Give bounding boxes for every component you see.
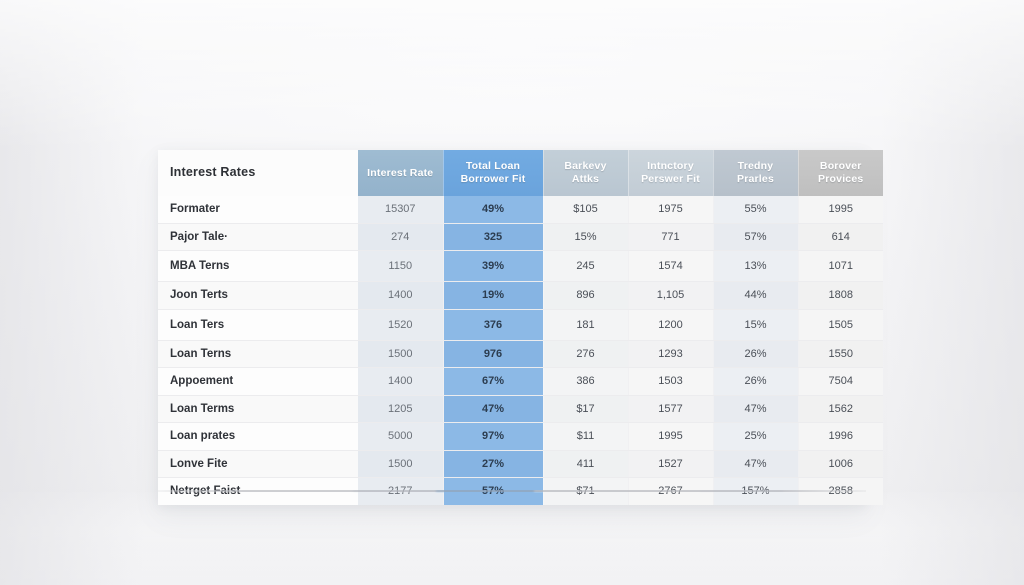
cell-col2: 49% — [443, 196, 543, 223]
cell-col3: 15% — [543, 223, 628, 251]
column-header-line: Tredny — [738, 160, 774, 172]
cell-col2: 19% — [443, 282, 543, 310]
cell-col6: 1006 — [798, 450, 883, 478]
cell-col6: 614 — [798, 223, 883, 251]
row-label-cell: Pajor Tale· — [158, 223, 358, 251]
cell-col3: 386 — [543, 368, 628, 396]
data-table-card: Interest RatesInterest RateTotal LoanBor… — [158, 150, 866, 505]
column-header-line: Interest Rate — [367, 167, 433, 179]
row-label-cell: Netrget Faist — [158, 478, 358, 505]
table-row[interactable]: Netrget Faist217757%$712767157%2858 — [158, 478, 883, 505]
row-label-cell: Loan Ters — [158, 309, 358, 340]
cell-col3: 276 — [543, 340, 628, 368]
cell-col2: 97% — [443, 423, 543, 451]
cell-col1: 274 — [358, 223, 443, 251]
cell-col5: 157% — [713, 478, 798, 505]
cell-col6: 1562 — [798, 395, 883, 423]
row-label-cell: Formater — [158, 196, 358, 223]
column-header-line: Attks — [572, 173, 599, 185]
cell-col6: 2858 — [798, 478, 883, 505]
cell-col4: 2767 — [628, 478, 713, 505]
cell-col5: 25% — [713, 423, 798, 451]
row-label-cell: Joon Terts — [158, 282, 358, 310]
cell-col5: 44% — [713, 282, 798, 310]
cell-col4: 1574 — [628, 251, 713, 282]
cell-col4: 1527 — [628, 450, 713, 478]
cell-col1: 1500 — [358, 340, 443, 368]
column-header-col2[interactable]: Total LoanBorrower Fit — [443, 150, 543, 196]
table-row[interactable]: Loan Terms120547%$17157747%1562 — [158, 395, 883, 423]
column-header-line: Interest Rates — [170, 165, 255, 179]
cell-col2: 67% — [443, 368, 543, 396]
cell-col4: 1293 — [628, 340, 713, 368]
cell-col2: 976 — [443, 340, 543, 368]
cell-col4: 1975 — [628, 196, 713, 223]
cell-col2: 27% — [443, 450, 543, 478]
table-row[interactable]: Loan Terns1500976276129326%1550 — [158, 340, 883, 368]
table-header-row: Interest RatesInterest RateTotal LoanBor… — [158, 150, 883, 196]
column-header-col4[interactable]: IntnctoryPerswer Fit — [628, 150, 713, 196]
cell-col5: 55% — [713, 196, 798, 223]
cell-col4: 771 — [628, 223, 713, 251]
cell-col6: 7504 — [798, 368, 883, 396]
cell-col3: 896 — [543, 282, 628, 310]
cell-col2: 376 — [443, 309, 543, 340]
table-row[interactable]: Pajor Tale·27432515%77157%614 — [158, 223, 883, 251]
table-row[interactable]: Appoement140067%386150326%7504 — [158, 368, 883, 396]
column-header-col5[interactable]: TrednyPrarles — [713, 150, 798, 196]
column-header-col1[interactable]: Interest Rate — [358, 150, 443, 196]
cell-col1: 1400 — [358, 282, 443, 310]
cell-col1: 2177 — [358, 478, 443, 505]
column-header-line: Prarles — [737, 173, 774, 185]
row-label-cell: Loan Terns — [158, 340, 358, 368]
cell-col5: 15% — [713, 309, 798, 340]
cell-col3: $105 — [543, 196, 628, 223]
cell-col3: $71 — [543, 478, 628, 505]
cell-col1: 15307 — [358, 196, 443, 223]
cell-col6: 1071 — [798, 251, 883, 282]
column-header-line: Barkevy — [564, 160, 606, 172]
table-row[interactable]: Lonve Fite150027%411152747%1006 — [158, 450, 883, 478]
cell-col3: $11 — [543, 423, 628, 451]
cell-col1: 1150 — [358, 251, 443, 282]
cell-col5: 13% — [713, 251, 798, 282]
cell-col2: 325 — [443, 223, 543, 251]
table-row[interactable]: Loan prates500097%$11199525%1996 — [158, 423, 883, 451]
cell-col4: 1995 — [628, 423, 713, 451]
row-label-cell: Loan Terms — [158, 395, 358, 423]
interest-rates-table: Interest RatesInterest RateTotal LoanBor… — [158, 150, 883, 505]
cell-col4: 1,105 — [628, 282, 713, 310]
cell-col6: 1808 — [798, 282, 883, 310]
column-header-col6[interactable]: BoroverProvices — [798, 150, 883, 196]
column-header-col3[interactable]: BarkevyAttks — [543, 150, 628, 196]
column-header-line: Total Loan — [466, 160, 520, 172]
cell-col5: 26% — [713, 368, 798, 396]
cell-col5: 47% — [713, 450, 798, 478]
cell-col5: 26% — [713, 340, 798, 368]
cell-col3: 411 — [543, 450, 628, 478]
cell-col1: 1400 — [358, 368, 443, 396]
cell-col2: 39% — [443, 251, 543, 282]
row-label-cell: MBA Terns — [158, 251, 358, 282]
cell-col1: 5000 — [358, 423, 443, 451]
table-title-header[interactable]: Interest Rates — [158, 150, 358, 196]
cell-col5: 57% — [713, 223, 798, 251]
column-header-line: Perswer Fit — [641, 173, 700, 185]
column-header-line: Provices — [818, 173, 863, 185]
cell-col6: 1995 — [798, 196, 883, 223]
table-row[interactable]: Formater1530749%$105197555%1995 — [158, 196, 883, 223]
cell-col4: 1503 — [628, 368, 713, 396]
cell-col3: $17 — [543, 395, 628, 423]
cell-col1: 1205 — [358, 395, 443, 423]
table-row[interactable]: Loan Ters1520376181120015%1505 — [158, 309, 883, 340]
row-label-cell: Appoement — [158, 368, 358, 396]
cell-col1: 1520 — [358, 309, 443, 340]
column-header-line: Borover — [820, 160, 862, 172]
cell-col1: 1500 — [358, 450, 443, 478]
cell-col6: 1996 — [798, 423, 883, 451]
cell-col5: 47% — [713, 395, 798, 423]
cell-col2: 47% — [443, 395, 543, 423]
table-row[interactable]: Joon Terts140019%8961,10544%1808 — [158, 282, 883, 310]
table-header: Interest RatesInterest RateTotal LoanBor… — [158, 150, 883, 196]
cell-col6: 1550 — [798, 340, 883, 368]
row-label-cell: Lonve Fite — [158, 450, 358, 478]
cell-col3: 181 — [543, 309, 628, 340]
table-row[interactable]: MBA Terns115039%245157413%1071 — [158, 251, 883, 282]
column-header-line: Intnctory — [647, 160, 694, 172]
column-header-line: Borrower Fit — [461, 173, 526, 185]
table-body: Formater1530749%$105197555%1995Pajor Tal… — [158, 196, 883, 505]
cell-col2: 57% — [443, 478, 543, 505]
row-label-cell: Loan prates — [158, 423, 358, 451]
cell-col3: 245 — [543, 251, 628, 282]
cell-col4: 1577 — [628, 395, 713, 423]
cell-col6: 1505 — [798, 309, 883, 340]
cell-col4: 1200 — [628, 309, 713, 340]
